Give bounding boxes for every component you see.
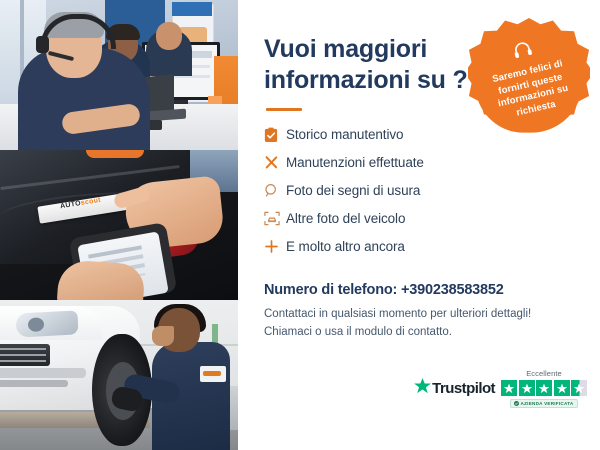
star-filled	[536, 380, 552, 396]
contact-note: Contattaci in qualsiasi momento per ulte…	[264, 306, 578, 342]
verified-business-text: AZIENDA VERIFICATA	[521, 401, 574, 406]
trustpilot-stars	[501, 380, 587, 396]
contact-note-line-1: Contattaci in qualsiasi momento per ulte…	[264, 308, 531, 320]
list-item: Foto dei segni di usura	[264, 177, 578, 204]
headset-icon	[511, 39, 535, 65]
verified-check-icon	[514, 401, 519, 406]
photo-damage-inspection: AUTOscout	[0, 150, 238, 300]
star-filled	[554, 380, 570, 396]
plus-icon	[264, 239, 286, 254]
headline-line-1: Vuoi maggiori	[264, 35, 427, 63]
page-title: Vuoi maggiori informazioni su ?	[264, 34, 479, 95]
title-divider	[266, 108, 302, 111]
trustpilot-star-icon	[414, 378, 431, 399]
trustpilot-rating-word: Eccellente	[526, 369, 562, 378]
photo-call-centre	[0, 0, 238, 150]
trustpilot-logo: Trustpilot	[414, 378, 495, 399]
trustpilot-wordmark: Trustpilot	[432, 380, 495, 397]
content-panel: Saremo felici di fornirti queste informa…	[238, 0, 600, 450]
phone-label: Numero di telefono:	[264, 282, 397, 298]
phone-number-line: Numero di telefono: +390238583852	[264, 282, 578, 298]
contact-note-line-2: Chiamaci o usa il modulo di contatto.	[264, 326, 452, 338]
headline-line-2: informazioni su ?	[264, 66, 468, 94]
list-item: E molto altro ancora	[264, 233, 578, 260]
feature-label: Foto dei segni di usura	[286, 183, 420, 198]
star-filled	[519, 380, 535, 396]
promo-starburst-badge: Saremo felici di fornirti queste informa…	[468, 18, 590, 140]
photo-wheel-inspection	[0, 300, 238, 450]
magnifier-icon	[264, 183, 286, 198]
verified-business-badge: AZIENDA VERIFICATA	[510, 399, 579, 408]
star-filled	[501, 380, 517, 396]
clipboard-check-icon	[264, 127, 286, 143]
feature-label: E molto altro ancora	[286, 239, 405, 254]
feature-list: Storico manutentivo Manutenzioni effettu…	[264, 121, 578, 260]
star-half	[571, 380, 587, 396]
feature-label: Storico manutentivo	[286, 127, 403, 142]
list-item: Altre foto del veicolo	[264, 205, 578, 232]
tools-cross-icon	[264, 155, 286, 170]
list-item: Manutenzioni effettuate	[264, 149, 578, 176]
feature-label: Altre foto del veicolo	[286, 211, 405, 226]
photo-column: AUTOscout	[0, 0, 238, 450]
car-scan-icon	[264, 211, 286, 226]
contact-info-banner: AUTOscout	[0, 0, 600, 450]
trustpilot-widget[interactable]: Trustpilot Eccellente	[414, 369, 587, 408]
feature-label: Manutenzioni effettuate	[286, 155, 424, 170]
phone-number[interactable]: +390238583852	[401, 282, 504, 298]
